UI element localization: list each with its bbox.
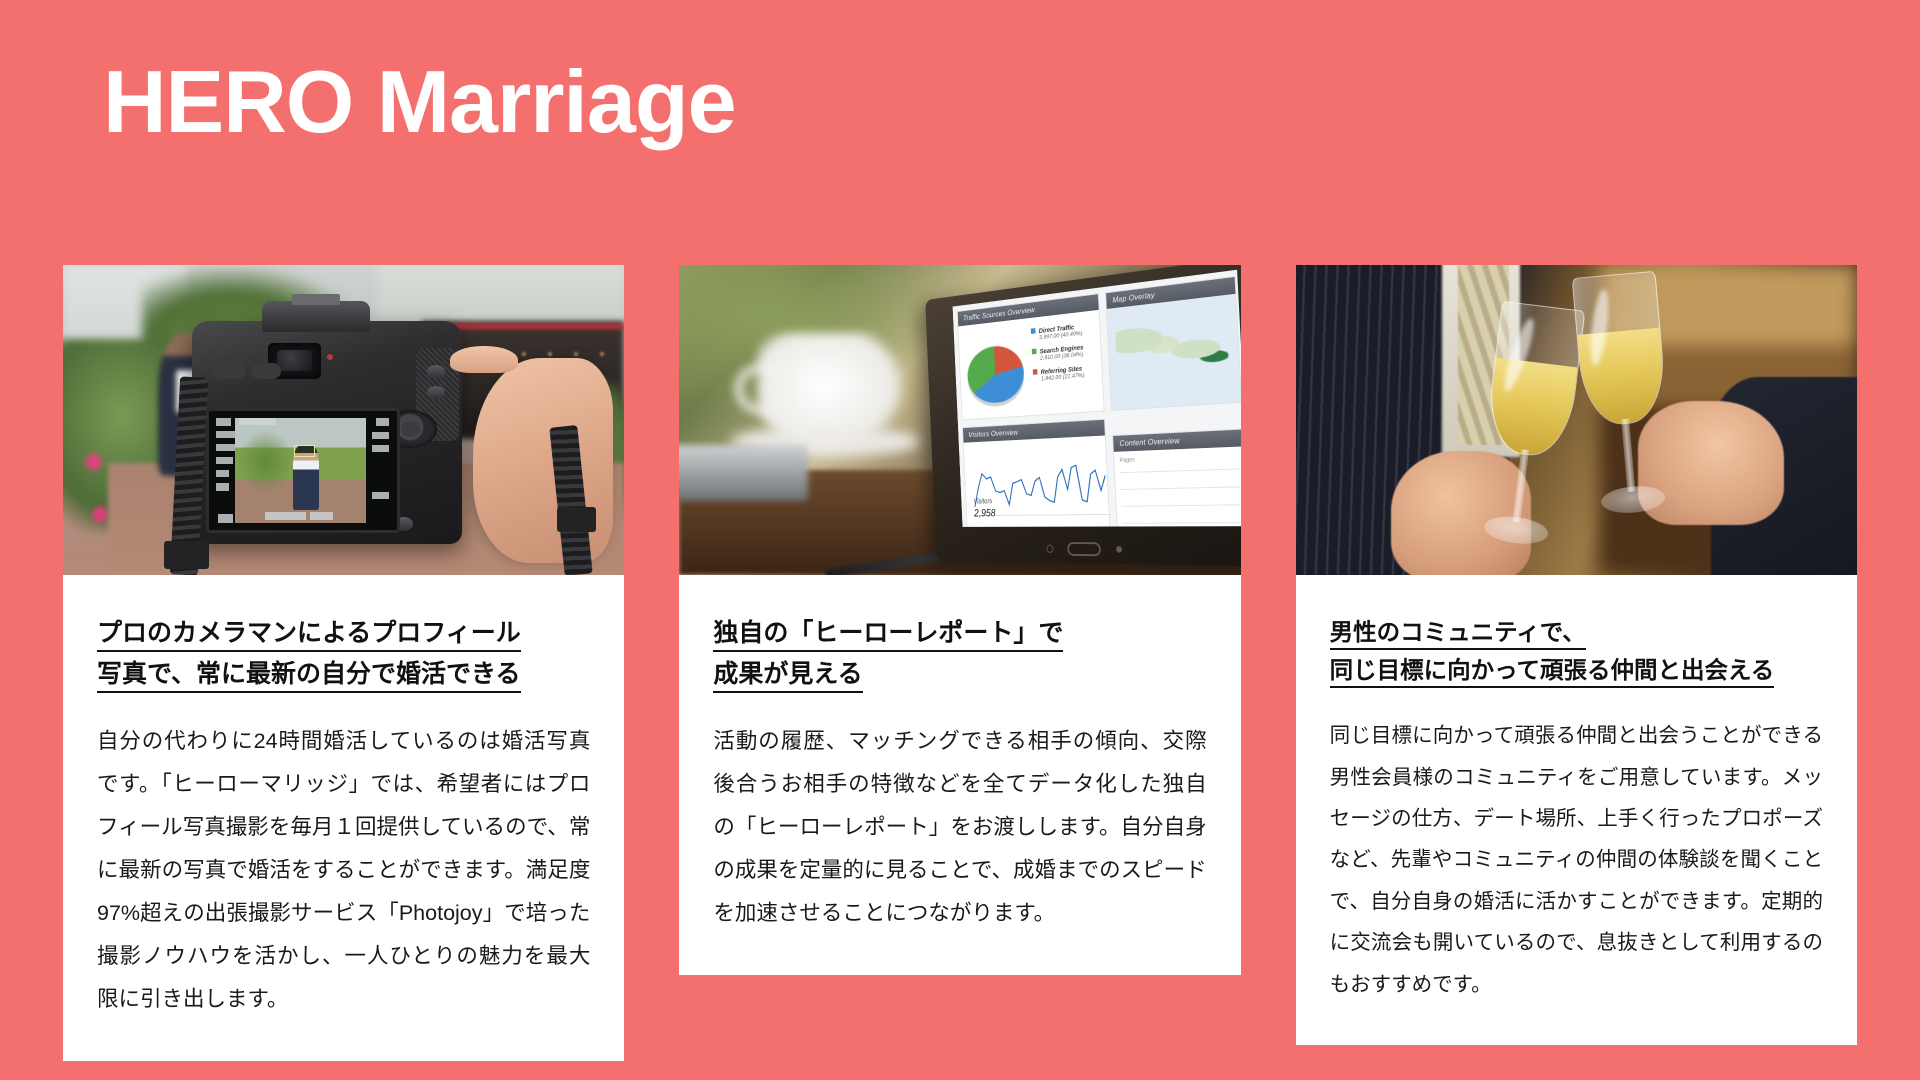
card-body: プロのカメラマンによるプロフィール 写真で、常に最新の自分で婚活できる 自分の代… [63, 575, 624, 1061]
osd-shots [372, 492, 389, 499]
card-title-line-2: 写真で、常に最新の自分で婚活できる [97, 660, 521, 693]
champagne-toast-suits-photo [1296, 265, 1857, 575]
osd-metering [216, 470, 229, 477]
card-title: 独自の「ヒーローレポート」で 成果が見える [713, 613, 1206, 694]
hotshoe [292, 294, 340, 305]
world-map [1107, 294, 1241, 410]
playback-button [427, 365, 446, 378]
visitors-metric: Visitors 2,958 [973, 497, 995, 519]
table-row [1121, 486, 1241, 490]
tablet-analytics-dashboard-photo: Traffic Sources Overview Direct Traffic … [679, 265, 1240, 575]
feature-card-community: 男性のコミュニティで、 同じ目標に向かって頑張る仲間と出会える 同じ目標に向かっ… [1296, 265, 1857, 1045]
live-view-tree [238, 431, 293, 494]
feature-cards-row: プロのカメラマンによるプロフィール 写真で、常に最新の自分で婚活できる 自分の代… [63, 265, 1857, 1061]
card-body: 独自の「ヒーローレポート」で 成果が見える 活動の履歴、マッチングできる相手の傾… [679, 575, 1240, 975]
osd-drive [216, 444, 235, 451]
pie-legend: Direct Traffic 3,997.00 (40.49%) Search … [1031, 322, 1085, 389]
card-title-line-2: 同じ目標に向かって頑張る仲間と出会える [1330, 657, 1775, 688]
panel-title: Traffic Sources Overview [963, 305, 1035, 322]
viewfinder-hump [262, 301, 370, 332]
card-description: 同じ目標に向かって頑張る仲間と出会うことができる男性会員様のコミュニティをご用意… [1330, 715, 1823, 1005]
hand-holding-camera [473, 358, 613, 563]
legend-swatch-referring [1033, 369, 1038, 375]
panel-title: Content Overview [1119, 436, 1180, 448]
panel-title: Map Overlay [1112, 290, 1155, 305]
glass-bowl [1483, 301, 1585, 460]
menu-button [211, 363, 246, 379]
cup-handle [735, 364, 791, 414]
osd-af-mode [216, 457, 233, 464]
osd-mode-p [216, 418, 231, 426]
glass-stem [1621, 419, 1635, 492]
glass-stem [1512, 450, 1528, 523]
tablet-screen: Traffic Sources Overview Direct Traffic … [953, 270, 1241, 527]
legend-item-direct: Direct Traffic 3,997.00 (40.49%) [1031, 322, 1083, 342]
osd-wb [216, 431, 235, 438]
card-title-line-1: プロのカメラマンによるプロフィール [97, 619, 521, 652]
legend-item-referring: Referring Sites 1,842.00 (21.47%) [1033, 364, 1085, 383]
camera-lcd-screen [206, 408, 400, 533]
autofocus-box [294, 445, 315, 457]
card-title-line-1: 独自の「ヒーローレポート」で [713, 619, 1063, 652]
sensor-dot [1116, 545, 1122, 552]
visitors-label: Visitors [973, 497, 992, 505]
osd-iso [372, 432, 389, 439]
table-header-pages: Pages [1119, 457, 1135, 464]
feature-card-photo-service: プロのカメラマンによるプロフィール 写真で、常に最新の自分で婚活できる 自分の代… [63, 265, 624, 1061]
glass-bowl [1572, 271, 1669, 428]
legend-item-search: Search Engines 2,910.00 (36.04%) [1032, 343, 1084, 362]
table-row [1122, 522, 1240, 524]
tablet-device: Traffic Sources Overview Direct Traffic … [925, 265, 1241, 566]
info-button [251, 363, 281, 379]
card-body: 男性のコミュニティで、 同じ目標に向かって頑張る仲間と出会える 同じ目標に向かっ… [1296, 575, 1857, 1045]
card-title: 男性のコミュニティで、 同じ目標に向かって頑張る仲間と出会える [1330, 613, 1823, 689]
index-finger-shutter [450, 346, 517, 374]
glass-foot [1482, 513, 1549, 547]
smartphone-on-desk [679, 445, 808, 501]
card-title-line-2: 成果が見える [713, 660, 862, 693]
record-indicator [327, 354, 333, 360]
table-row [1120, 468, 1241, 473]
panel-title: Visitors Overview [968, 428, 1018, 439]
panel-header: Visitors Overview [963, 420, 1105, 443]
card-description: 自分の代わりに24時間婚活しているのは婚活写真です。「ヒーローマリッジ」では、希… [97, 720, 590, 1021]
osd-aspect [310, 512, 333, 520]
legend-swatch-direct [1031, 328, 1036, 334]
feature-card-hero-report: Traffic Sources Overview Direct Traffic … [679, 265, 1240, 975]
photographer-camera-street-photo [63, 265, 624, 575]
strap-clip-left [164, 541, 209, 569]
zoom-button [427, 386, 446, 399]
traffic-pie-chart [966, 343, 1025, 404]
card-description: 活動の履歴、マッチングできる相手の傾向、交際後合うお相手の特徴などを全てデータ化… [713, 720, 1206, 935]
osd-battery [372, 445, 389, 452]
panel-traffic-sources: Traffic Sources Overview Direct Traffic … [957, 293, 1105, 420]
front-camera-icon [1046, 544, 1053, 552]
panel-map-overlay: Map Overlay [1105, 276, 1240, 411]
osd-af-point [376, 418, 389, 426]
osd-flash [218, 514, 233, 522]
osd-exposure-bar [265, 512, 306, 520]
content-table: Pages [1114, 446, 1241, 527]
table-row [1122, 504, 1241, 507]
card-title-line-1: 男性のコミュニティで、 [1330, 619, 1586, 650]
osd-quality [216, 483, 229, 490]
osd-shutter-info [239, 418, 277, 425]
card-title: プロのカメラマンによるプロフィール 写真で、常に最新の自分で婚活できる [97, 613, 590, 694]
page-title: HERO Marriage [103, 50, 736, 154]
champagne-liquid [1484, 358, 1577, 459]
glass-foot [1600, 484, 1666, 516]
visitors-value: 2,958 [974, 507, 996, 519]
panel-content-overview: Content Overview Pages [1112, 428, 1240, 527]
strap-clip-right [557, 507, 596, 532]
panel-header: Traffic Sources Overview [958, 294, 1099, 326]
live-view-image [235, 418, 367, 523]
panel-visitors-overview: Visitors Overview Visitors 2,958 [962, 419, 1110, 527]
home-button [1067, 542, 1101, 556]
dslr-camera-body [192, 321, 461, 544]
legend-swatch-search [1032, 349, 1037, 355]
